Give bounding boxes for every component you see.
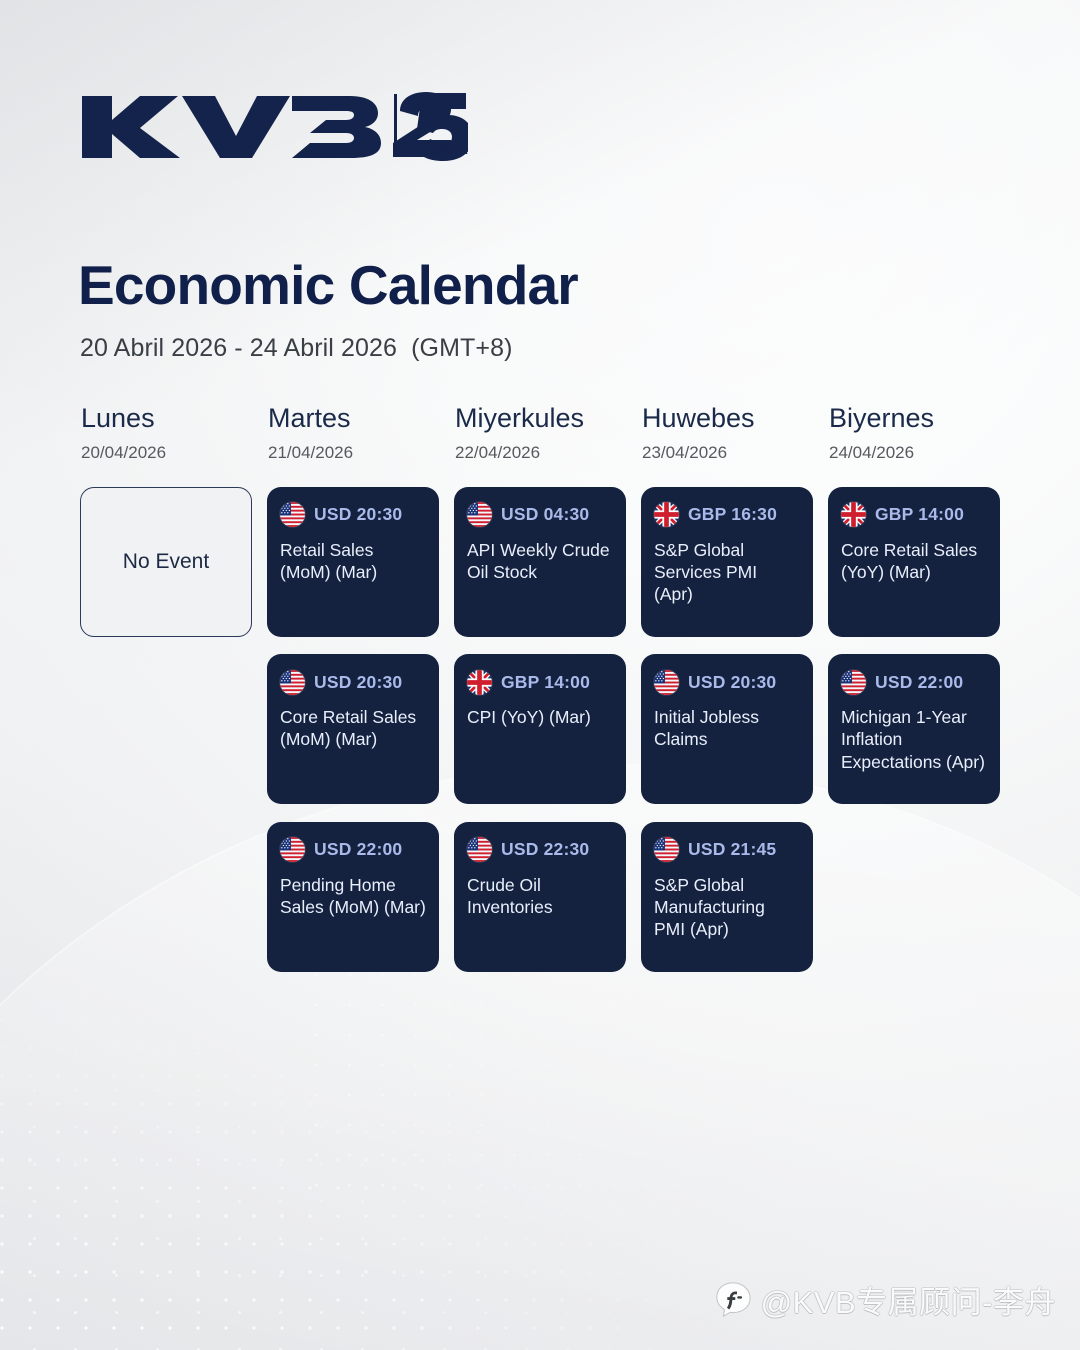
day-header: Martes21/04/2026 xyxy=(267,404,439,463)
event-currency-time: GBP 16:30 xyxy=(688,504,777,525)
event-card-header: GBP 16:30 xyxy=(654,502,800,528)
event-card-list: GBP 16:30S&P Global Services PMI (Apr)US… xyxy=(641,487,813,972)
event-currency-time: USD 04:30 xyxy=(501,504,589,525)
us-flag-icon xyxy=(280,670,305,695)
day-date: 22/04/2026 xyxy=(455,443,626,463)
event-card-header: GBP 14:00 xyxy=(467,669,613,695)
event-currency-time: GBP 14:00 xyxy=(501,672,590,693)
us-flag-icon xyxy=(467,502,492,527)
event-card[interactable]: USD 20:30Initial Jobless Claims xyxy=(641,654,813,804)
event-card-list: USD 20:30Retail Sales (MoM) (Mar)USD 20:… xyxy=(267,487,439,972)
day-date: 23/04/2026 xyxy=(642,443,813,463)
event-card-header: USD 21:45 xyxy=(654,837,800,863)
event-currency-time: USD 22:00 xyxy=(314,839,402,860)
event-title: S&P Global Manufacturing PMI (Apr) xyxy=(654,874,800,941)
kvb-logo: YEARS xyxy=(78,88,468,164)
event-currency-time: USD 22:30 xyxy=(501,839,589,860)
event-card[interactable]: USD 22:30Crude Oil Inventories xyxy=(454,822,626,972)
svg-text:YEARS: YEARS xyxy=(430,139,468,158)
event-title: Core Retail Sales (YoY) (Mar) xyxy=(841,539,987,583)
economic-calendar: Lunes20/04/2026No EventMartes21/04/2026U… xyxy=(80,404,1005,972)
event-card[interactable]: GBP 14:00Core Retail Sales (YoY) (Mar) xyxy=(828,487,1000,637)
day-header: Miyerkules22/04/2026 xyxy=(454,404,626,463)
day-name: Martes xyxy=(268,404,439,434)
us-flag-icon xyxy=(654,670,679,695)
day-date: 20/04/2026 xyxy=(81,443,252,463)
event-currency-time: USD 20:30 xyxy=(688,672,776,693)
no-event-label: No Event xyxy=(123,550,209,574)
event-title: API Weekly Crude Oil Stock xyxy=(467,539,613,583)
day-date: 24/04/2026 xyxy=(829,443,1000,463)
day-date: 21/04/2026 xyxy=(268,443,439,463)
event-card[interactable]: GBP 14:00CPI (YoY) (Mar) xyxy=(454,654,626,804)
event-card[interactable]: USD 20:30Retail Sales (MoM) (Mar) xyxy=(267,487,439,637)
watermark: @KVB专属顾问-李舟 xyxy=(714,1277,1056,1322)
event-title: S&P Global Services PMI (Apr) xyxy=(654,539,800,606)
us-flag-icon xyxy=(280,502,305,527)
us-flag-icon xyxy=(841,670,866,695)
event-title: CPI (YoY) (Mar) xyxy=(467,706,613,728)
uk-flag-icon xyxy=(467,670,492,695)
event-card-header: USD 20:30 xyxy=(280,669,426,695)
event-card[interactable]: USD 22:00Pending Home Sales (MoM) (Mar) xyxy=(267,822,439,972)
event-card-list: No Event xyxy=(80,487,252,637)
day-columns: Lunes20/04/2026No EventMartes21/04/2026U… xyxy=(80,404,1005,972)
day-name: Biyernes xyxy=(829,404,1000,434)
uk-flag-icon xyxy=(841,502,866,527)
event-card[interactable]: USD 22:00Michigan 1-Year Inflation Expec… xyxy=(828,654,1000,804)
poster-canvas: YEARS Economic Calendar 20 Abril 2026 - … xyxy=(0,0,1080,1350)
event-title: Initial Jobless Claims xyxy=(654,706,800,750)
day-header: Huwebes23/04/2026 xyxy=(641,404,813,463)
event-card-header: GBP 14:00 xyxy=(841,502,987,528)
event-card[interactable]: USD 20:30Core Retail Sales (MoM) (Mar) xyxy=(267,654,439,804)
day-column-miyerkules: Miyerkules22/04/2026USD 04:30API Weekly … xyxy=(454,404,626,972)
event-card-list: GBP 14:00Core Retail Sales (YoY) (Mar)US… xyxy=(828,487,1000,805)
event-card-header: USD 04:30 xyxy=(467,502,613,528)
event-card-header: USD 20:30 xyxy=(280,502,426,528)
event-card-header: USD 22:00 xyxy=(280,837,426,863)
us-flag-icon xyxy=(654,837,679,862)
event-card[interactable]: GBP 16:30S&P Global Services PMI (Apr) xyxy=(641,487,813,637)
us-flag-icon xyxy=(280,837,305,862)
event-currency-time: USD 20:30 xyxy=(314,672,402,693)
event-card-list: USD 04:30API Weekly Crude Oil StockGBP 1… xyxy=(454,487,626,972)
event-currency-time: USD 21:45 xyxy=(688,839,776,860)
event-card[interactable]: USD 21:45S&P Global Manufacturing PMI (A… xyxy=(641,822,813,972)
day-column-lunes: Lunes20/04/2026No Event xyxy=(80,404,252,972)
day-name: Huwebes xyxy=(642,404,813,434)
day-header: Biyernes24/04/2026 xyxy=(828,404,1000,463)
event-title: Pending Home Sales (MoM) (Mar) xyxy=(280,874,426,918)
no-event-card: No Event xyxy=(80,487,252,637)
event-card-header: USD 22:00 xyxy=(841,669,987,695)
day-column-huwebes: Huwebes23/04/2026GBP 16:30S&P Global Ser… xyxy=(641,404,813,972)
uk-flag-icon xyxy=(654,502,679,527)
event-card[interactable]: USD 04:30API Weekly Crude Oil Stock xyxy=(454,487,626,637)
event-currency-time: GBP 14:00 xyxy=(875,504,964,525)
day-column-martes: Martes21/04/2026USD 20:30Retail Sales (M… xyxy=(267,404,439,972)
event-title: Michigan 1-Year Inflation Expectations (… xyxy=(841,706,987,773)
event-title: Retail Sales (MoM) (Mar) xyxy=(280,539,426,583)
watermark-handle: @KVB专属顾问-李舟 xyxy=(761,1277,1056,1322)
us-flag-icon xyxy=(467,837,492,862)
event-card-header: USD 22:30 xyxy=(467,837,613,863)
day-name: Miyerkules xyxy=(455,404,626,434)
event-currency-time: USD 22:00 xyxy=(875,672,963,693)
date-range-subtitle: 20 Abril 2026 - 24 Abril 2026 (GMT+8) xyxy=(80,334,513,363)
page-title: Economic Calendar xyxy=(78,258,578,313)
rednote-logo-icon xyxy=(714,1281,752,1319)
event-title: Crude Oil Inventories xyxy=(467,874,613,918)
day-header: Lunes20/04/2026 xyxy=(80,404,252,463)
day-name: Lunes xyxy=(81,404,252,434)
event-card-header: USD 20:30 xyxy=(654,669,800,695)
event-currency-time: USD 20:30 xyxy=(314,504,402,525)
day-column-biyernes: Biyernes24/04/2026GBP 14:00Core Retail S… xyxy=(828,404,1000,972)
event-title: Core Retail Sales (MoM) (Mar) xyxy=(280,706,426,750)
